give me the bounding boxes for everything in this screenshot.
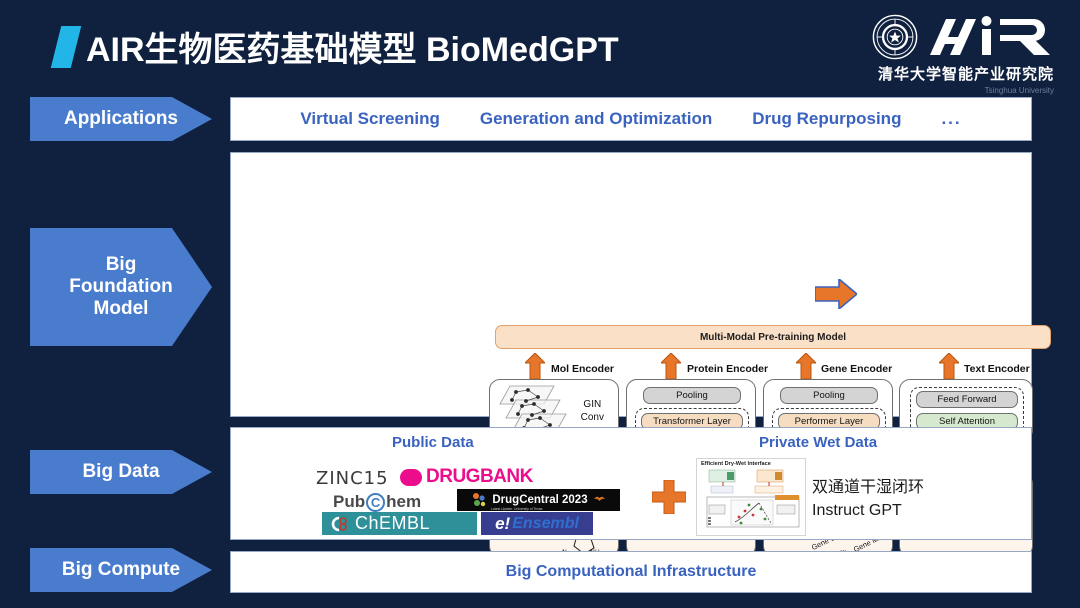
chembl-mark-icon bbox=[327, 515, 349, 533]
title-accent-bar bbox=[51, 26, 81, 68]
brand-name-en: Tsinghua University bbox=[864, 86, 1054, 95]
page-title-text: AIR生物医药基础模型 BioMedGPT bbox=[86, 22, 619, 71]
logo-drugbank[interactable]: DRUGBANK bbox=[400, 466, 533, 488]
protein-pooling-pill: Pooling bbox=[643, 387, 741, 404]
encoder-label-gene: Gene Encoder bbox=[821, 363, 892, 375]
private-data-title: Private Wet Data bbox=[759, 434, 877, 451]
logo-ensembl[interactable]: e! Ensembl bbox=[481, 512, 593, 535]
layer-label-applications[interactable]: Applications bbox=[30, 97, 212, 141]
logo-zinc15[interactable]: ZINC15 bbox=[316, 468, 389, 489]
encoder-label-text: Text Encoder bbox=[964, 363, 1030, 375]
page-header: AIR生物医药基础模型 BioMedGPT bbox=[0, 0, 1080, 92]
gin-line2: Conv bbox=[581, 412, 604, 423]
wet-caption-line2: Instruct GPT bbox=[812, 502, 902, 519]
multimodal-pretraining-bar: Multi-Modal Pre-training Model bbox=[495, 325, 1051, 349]
text-feedforward-pill: Feed Forward bbox=[916, 391, 1018, 408]
plus-icon bbox=[652, 480, 686, 514]
applications-panel: Virtual Screening Generation and Optimiz… bbox=[230, 97, 1032, 141]
gin-line1: GIN bbox=[583, 399, 601, 410]
big-compute-text: Big Computational Infrastructure bbox=[231, 552, 1031, 592]
up-arrow-icon bbox=[525, 353, 545, 379]
brand-name-cn: 清华大学智能产业研究院 bbox=[864, 63, 1054, 84]
dry-wet-card-title: Efficient Dry-Wet Interface bbox=[697, 459, 805, 467]
layer-label-big-compute[interactable]: Big Compute bbox=[30, 548, 212, 592]
longhorn-icon bbox=[593, 494, 606, 506]
application-generation-optimization[interactable]: Generation and Optimization bbox=[480, 109, 712, 129]
up-arrow-icon bbox=[661, 353, 681, 379]
foundation-model-panel: Multi-Modal Pre-training Model Mol Encod… bbox=[230, 152, 1032, 417]
pubchem-pre: Pub bbox=[333, 492, 365, 512]
application-more[interactable]: ... bbox=[941, 109, 961, 129]
application-drug-repurposing[interactable]: Drug Repurposing bbox=[752, 109, 901, 129]
wet-caption-line1: 双通道干湿闭环 bbox=[812, 479, 924, 496]
encoder-label-protein: Protein Encoder bbox=[687, 363, 768, 375]
logo-chembl[interactable]: ChEMBL bbox=[322, 512, 477, 535]
up-arrow-icon bbox=[796, 353, 816, 379]
drugbank-label: DRUGBANK bbox=[426, 466, 533, 488]
logo-drugcentral[interactable]: DrugCentral 2023 Latest Update: Universi… bbox=[457, 489, 620, 511]
air-logo-mark bbox=[926, 15, 1054, 59]
chembl-label: ChEMBL bbox=[355, 513, 430, 534]
application-virtual-screening[interactable]: Virtual Screening bbox=[300, 109, 440, 129]
up-arrow-icon bbox=[939, 353, 959, 379]
public-data-title: Public Data bbox=[392, 434, 474, 451]
gene-pooling-pill: Pooling bbox=[780, 387, 878, 404]
ensembl-label: Ensembl bbox=[512, 515, 579, 533]
pubchem-post: hem bbox=[386, 492, 421, 512]
right-arrow-icon bbox=[815, 279, 857, 309]
dry-wet-diagram-icon bbox=[697, 467, 805, 529]
drugbank-pill-icon bbox=[400, 469, 422, 486]
dry-wet-interface-card[interactable]: Efficient Dry-Wet Interface bbox=[696, 458, 806, 536]
layer-label-foundation-model[interactable]: BigFoundationModel bbox=[30, 228, 212, 346]
layer-label-big-data[interactable]: Big Data bbox=[30, 450, 212, 494]
encoder-label-mol: Mol Encoder bbox=[551, 363, 614, 375]
drugcentral-label: DrugCentral 2023 bbox=[492, 494, 587, 506]
downstream-tasks-panel: Downstream Tasks · 蛋白质结构预测 · 分子对接 · 药物-靶… bbox=[1076, 305, 1080, 570]
wet-data-caption: 双通道干湿闭环 Instruct GPT bbox=[812, 477, 924, 522]
logo-pubchem[interactable]: Pub C hem bbox=[333, 492, 421, 512]
drugcentral-mark-icon bbox=[471, 492, 487, 508]
ensembl-e-icon: e! bbox=[495, 514, 510, 534]
page-title: AIR生物医药基础模型 BioMedGPT bbox=[56, 22, 619, 71]
pubchem-c-icon: C bbox=[366, 493, 385, 512]
tsinghua-seal-icon bbox=[872, 14, 918, 60]
big-compute-panel: Big Computational Infrastructure bbox=[230, 551, 1032, 593]
encoder-mol-body: GIN Conv bbox=[581, 398, 604, 424]
drugcentral-subtext: Latest Update: University of Texas bbox=[491, 507, 542, 511]
brand-logo: 清华大学智能产业研究院 Tsinghua University bbox=[864, 14, 1054, 95]
